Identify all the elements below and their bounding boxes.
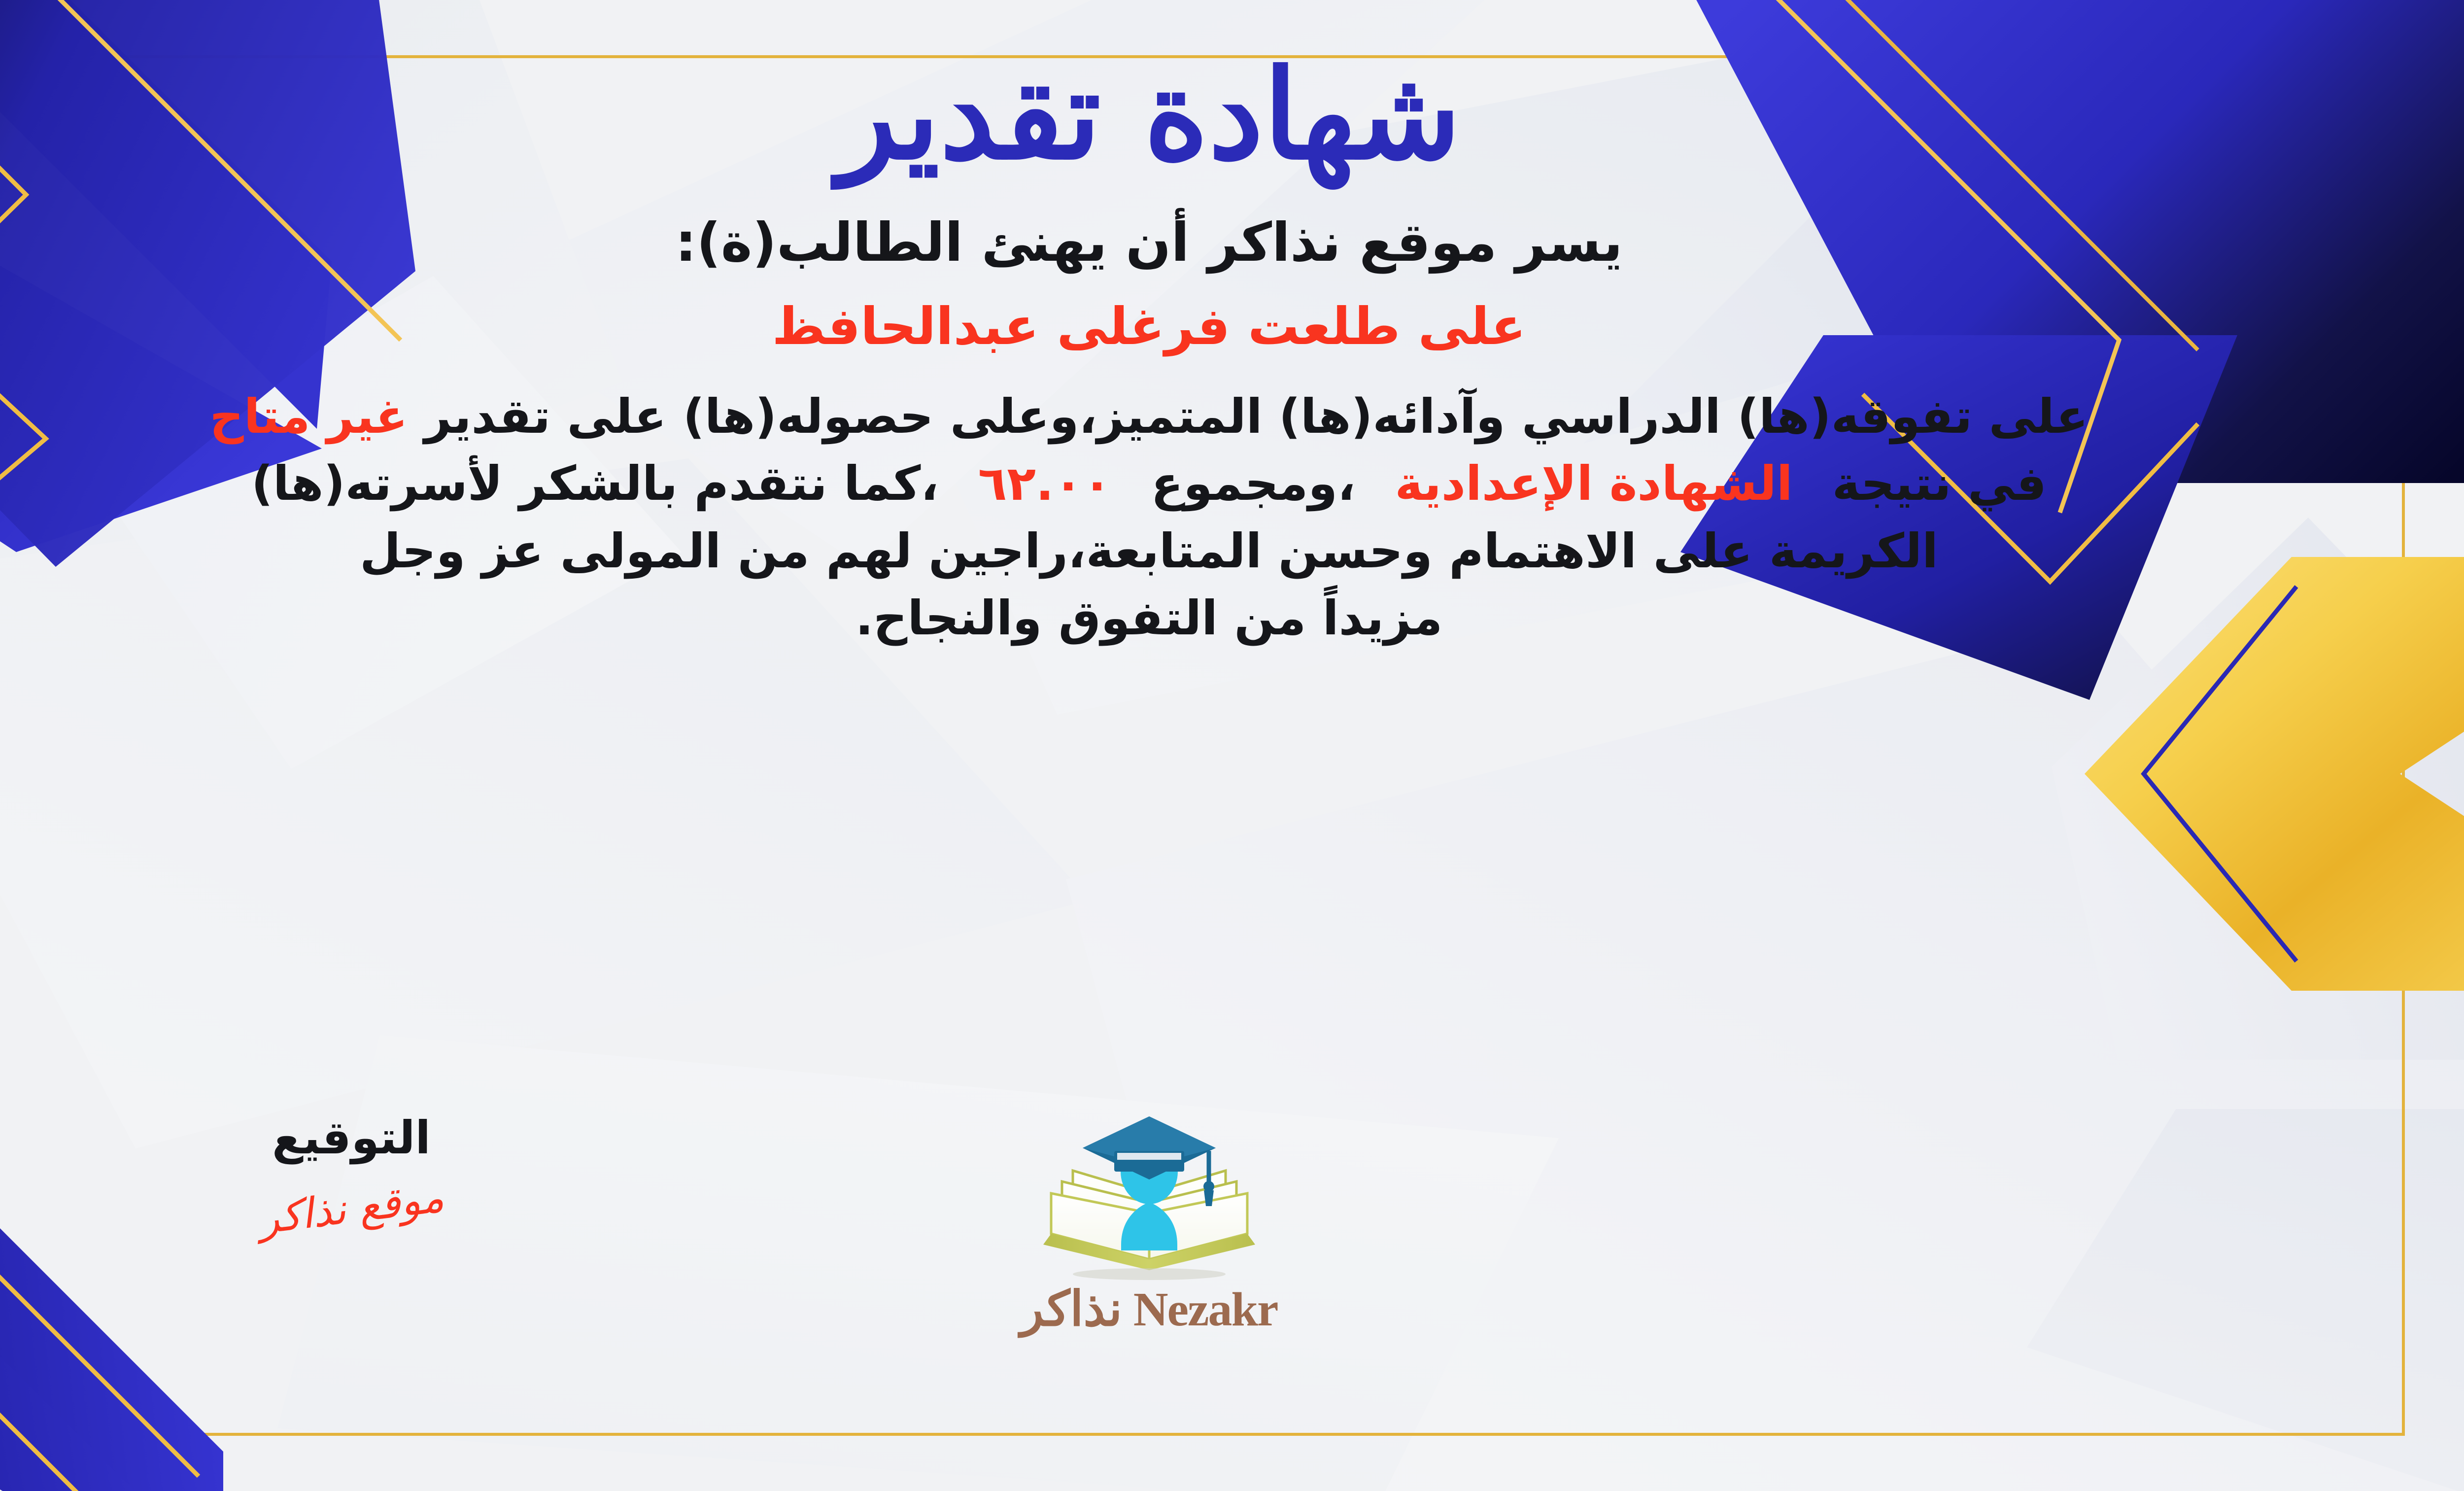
student-name: على طلعت فرغلى عبدالحافظ	[772, 296, 1526, 356]
body-text-segment: ،كما نتقدم بالشكر لأسرته(ها)	[251, 456, 939, 511]
certificate-body: على تفوقه(ها) الدراسي وآدائه(ها) المتميز…	[0, 383, 2307, 652]
page-title: شهادة تقدير	[0, 35, 2464, 197]
grade-value: غير متاح	[210, 389, 408, 444]
total-score: ٦٢.٠٠	[978, 456, 1112, 511]
certificate-page: شهادة تقدير يسر موقع نذاكر أن يهنئ الطال…	[0, 0, 2464, 1491]
exam-name: الشهادة الإعدادية	[1395, 456, 1792, 511]
certificate-content: شهادة تقدير يسر موقع نذاكر أن يهنئ الطال…	[0, 0, 2464, 1491]
greeting-line: يسر موقع نذاكر أن يهنئ الطالب(ة):	[675, 212, 1623, 274]
body-line: مزيداً من التفوق والنجاح.	[0, 585, 2307, 652]
title-calligraphy: شهادة تقدير	[656, 35, 1642, 197]
body-line: الكريمة على الاهتمام وحسن المتابعة،راجين…	[0, 518, 2307, 585]
body-line: في نتيجةالشهادة الإعدادية،ومجموع٦٢.٠٠،كم…	[0, 450, 2307, 517]
body-text-segment: على تفوقه(ها) الدراسي وآدائه(ها) المتميز…	[408, 389, 2088, 444]
body-text-segment: مزيداً من التفوق والنجاح.	[856, 590, 1443, 646]
body-text-segment: ،ومجموع	[1151, 456, 1356, 511]
body-line: على تفوقه(ها) الدراسي وآدائه(ها) المتميز…	[0, 383, 2307, 450]
body-text-segment: في نتيجة	[1832, 456, 2047, 511]
body-text-segment: الكريمة على الاهتمام وحسن المتابعة،راجين…	[360, 523, 1938, 579]
title-text: شهادة تقدير	[830, 42, 1461, 190]
